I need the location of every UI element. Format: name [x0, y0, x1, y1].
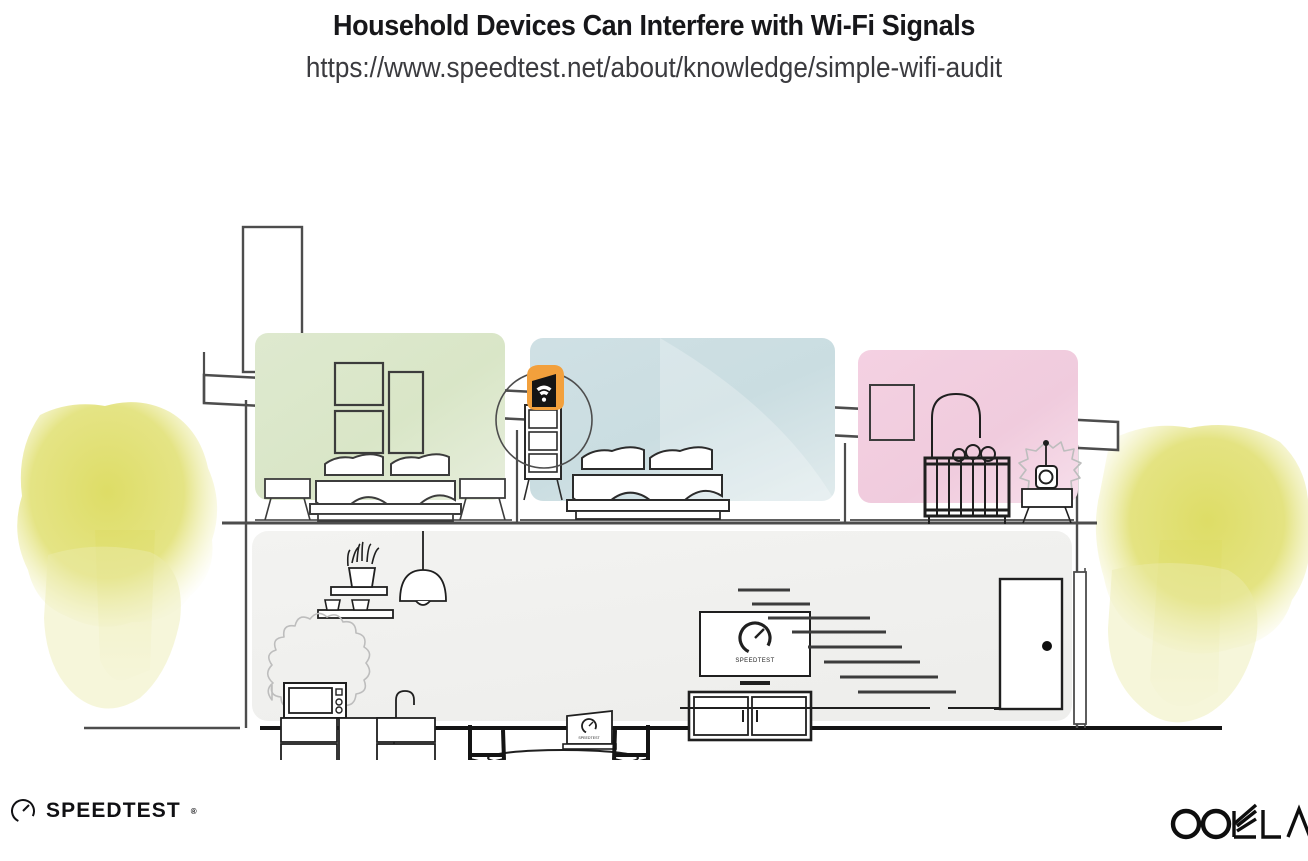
room-nursery-right: [850, 350, 1081, 524]
laptop[interactable]: SPEEDTEST: [563, 711, 616, 749]
media-console: [689, 692, 811, 740]
tree-left: [17, 402, 217, 708]
room-lower-floor: SPEEDTEST: [252, 531, 1072, 760]
source-url: https://www.speedtest.net/about/knowledg…: [65, 43, 1242, 85]
television[interactable]: SPEEDTEST: [700, 612, 810, 685]
side-table: [1022, 489, 1072, 523]
door-knob-icon: [1042, 641, 1052, 651]
footer: SPEEDTEST ®: [0, 770, 1308, 861]
laptop-screen-label: SPEEDTEST: [578, 736, 600, 740]
infographic-page: Household Devices Can Interfere with Wi-…: [0, 0, 1308, 861]
tree-right-foliage-soft: [1108, 563, 1257, 722]
registered-mark: ®: [191, 807, 197, 816]
tree-left-foliage-soft: [44, 547, 181, 709]
wifi-router[interactable]: [527, 365, 564, 410]
speedtest-logo: SPEEDTEST ®: [10, 798, 197, 824]
front-door[interactable]: [994, 579, 1062, 709]
bed-frame: [576, 511, 720, 519]
chair: [470, 725, 504, 760]
header: Household Devices Can Interfere with Wi-…: [0, 0, 1308, 85]
tv-screen-label: SPEEDTEST: [735, 658, 774, 664]
microwave[interactable]: [284, 683, 346, 718]
bowl: [352, 600, 369, 610]
house-illustration: SPEEDTEST: [0, 100, 1308, 760]
bowl: [325, 600, 340, 610]
downspout-box: [1074, 572, 1086, 724]
tree-right: [1096, 425, 1308, 722]
ookla-logo: [1164, 800, 1308, 842]
bed-base: [567, 500, 729, 511]
chair: [614, 725, 648, 760]
bed-base: [310, 504, 461, 514]
speedtest-wordmark: SPEEDTEST: [46, 799, 181, 823]
speedtest-gauge-icon: [10, 798, 36, 824]
page-title: Household Devices Can Interfere with Wi-…: [46, 0, 1262, 43]
room-bedroom-left: [255, 333, 512, 521]
